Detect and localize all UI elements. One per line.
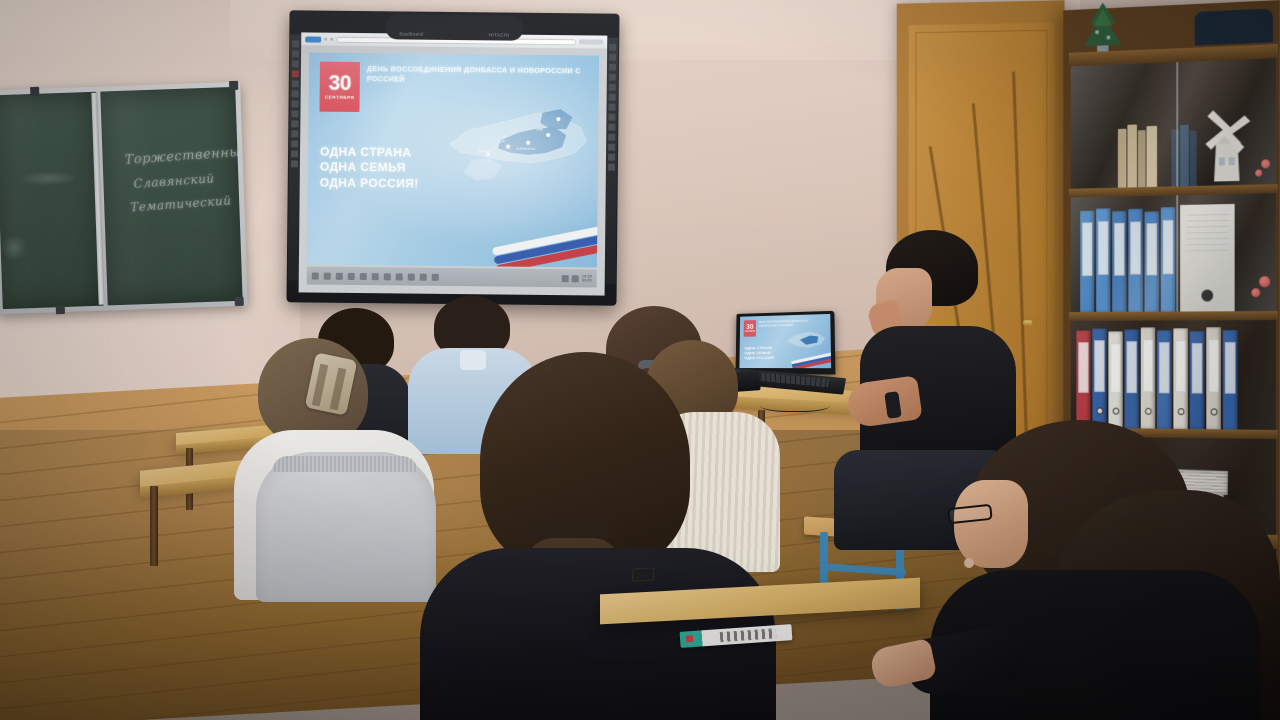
slide-motto-line-2: ОДНА СЕМЬЯ xyxy=(320,160,419,176)
bookcase-bay-mixed-binders[interactable] xyxy=(1071,320,1276,430)
app-icon[interactable] xyxy=(432,273,439,280)
binder[interactable] xyxy=(1125,329,1139,428)
glass-door-seam xyxy=(1176,62,1178,186)
slide-day-number: 30 xyxy=(328,73,351,93)
keypad-key[interactable] xyxy=(608,124,615,131)
chalk-smudge xyxy=(0,234,27,261)
keypad-key[interactable] xyxy=(608,144,615,151)
system-tray[interactable]: 14:35 30.09 xyxy=(562,274,592,282)
binder-white[interactable] xyxy=(1206,327,1221,429)
whiteboard-brand-hitachi: HITACHI xyxy=(489,32,510,37)
binder[interactable] xyxy=(1190,331,1205,429)
desk-leg xyxy=(150,486,158,566)
windows-taskbar[interactable]: 14:35 30.09 xyxy=(307,266,597,287)
binder-white[interactable] xyxy=(1173,328,1187,429)
svg-text:ЗАПОРОЖЬЕ: ЗАПОРОЖЬЕ xyxy=(516,147,535,151)
binder[interactable] xyxy=(1145,211,1159,311)
keypad-key[interactable] xyxy=(608,154,615,161)
whiteboard-brand-starboard: StarBoard xyxy=(399,31,423,36)
binder-label xyxy=(1163,220,1174,274)
binder[interactable] xyxy=(1128,209,1142,312)
student-foreground xyxy=(420,352,780,720)
chalkboard-panel-left xyxy=(0,92,104,309)
decorative-windmill xyxy=(1197,107,1258,182)
folder-icon[interactable] xyxy=(420,273,427,280)
keypad-key[interactable] xyxy=(608,114,615,121)
presentation-slide[interactable]: ДНР ЛНР ЗАПОРОЖЬЕ ХЕРСОН 30 СЕНТЯБРЯ ДЕН… xyxy=(307,52,599,267)
chalkboard: Торжественный Славянский Тематический xyxy=(0,82,248,315)
binder-label xyxy=(1159,342,1170,393)
keypad-key[interactable] xyxy=(609,64,616,71)
binder-ring xyxy=(1145,408,1152,415)
book-dark[interactable] xyxy=(1190,131,1197,187)
glass-door-seam xyxy=(1176,195,1178,311)
binder-label xyxy=(1225,342,1236,394)
binder-label xyxy=(1110,343,1120,393)
browser-icon[interactable] xyxy=(360,273,367,280)
clock-date: 30.09 xyxy=(582,278,592,282)
binder-label xyxy=(1208,339,1219,392)
start-icon[interactable] xyxy=(312,272,319,279)
chalkboard-corner xyxy=(30,87,39,96)
binder[interactable] xyxy=(1080,211,1094,312)
keypad-key-power[interactable] xyxy=(292,70,299,77)
binder[interactable] xyxy=(1223,330,1238,429)
binder-label xyxy=(1126,341,1136,392)
keypad-key[interactable] xyxy=(291,140,298,147)
chalkboard-corner xyxy=(235,297,244,306)
svg-text:ЛНР: ЛНР xyxy=(536,128,544,132)
book[interactable] xyxy=(1127,124,1137,187)
keypad-key[interactable] xyxy=(291,120,298,127)
browser-forward-icon[interactable] xyxy=(330,38,333,41)
laptop-slide-month: СЕНТЯБРЯ xyxy=(745,331,755,333)
chalkboard-sheen-left xyxy=(0,92,73,309)
taskbar-clock[interactable]: 14:35 30.09 xyxy=(582,274,592,282)
keypad-key[interactable] xyxy=(291,110,298,117)
dark-bag-on-top xyxy=(1195,8,1273,45)
slide-month-label: СЕНТЯБРЯ xyxy=(325,95,355,100)
search-icon[interactable] xyxy=(324,272,331,279)
binder-label xyxy=(1130,221,1140,275)
keypad-key[interactable] xyxy=(292,60,299,67)
browser-toolbar-chip[interactable] xyxy=(579,39,603,44)
powerpoint-icon[interactable] xyxy=(384,273,391,280)
archive-box-white[interactable] xyxy=(1180,204,1234,312)
binder-ring xyxy=(1096,407,1103,414)
chalkboard-panel-right: Торжественный Славянский Тематический xyxy=(100,87,243,306)
face-profile xyxy=(954,480,1028,568)
binder-red[interactable] xyxy=(1076,331,1090,428)
book[interactable] xyxy=(1138,130,1146,187)
classroom-scene: Торжественный Славянский Тематический St… xyxy=(0,0,1280,720)
mail-icon[interactable] xyxy=(372,273,379,280)
svg-text:ДНР: ДНР xyxy=(498,139,506,143)
vest-ribbed-collar xyxy=(272,456,418,472)
knit-vest xyxy=(256,452,436,602)
binder-label xyxy=(1143,340,1154,393)
archive-box-lines xyxy=(1186,214,1229,254)
binder-white[interactable] xyxy=(1108,331,1122,428)
russia-map-graphic: ДНР ЛНР ЗАПОРОЖЬЕ ХЕРСОН xyxy=(442,82,593,204)
keypad-key[interactable] xyxy=(292,80,299,87)
binder-white[interactable] xyxy=(1141,327,1155,428)
binder-ring xyxy=(1112,408,1119,415)
binder[interactable] xyxy=(1161,207,1175,312)
chalkboard-frame: Торжественный Славянский Тематический xyxy=(0,82,248,315)
binder-ring xyxy=(1177,408,1184,415)
volume-icon[interactable] xyxy=(572,275,579,282)
binder-label xyxy=(1094,340,1104,392)
keypad-key[interactable] xyxy=(291,160,298,167)
book[interactable] xyxy=(1118,129,1127,188)
media-icon[interactable] xyxy=(408,273,415,280)
desk-sticker: △○□ xyxy=(632,567,654,581)
binder-label xyxy=(1192,343,1203,394)
archive-box-hole xyxy=(1201,290,1213,302)
pencil-case-logo xyxy=(686,635,693,642)
keypad-key[interactable] xyxy=(292,90,299,97)
binder[interactable] xyxy=(1092,329,1106,429)
word-icon[interactable] xyxy=(396,273,403,280)
binder-label xyxy=(1082,223,1092,276)
keypad-key[interactable] xyxy=(291,150,298,157)
red-flower xyxy=(1261,159,1270,168)
door-handle[interactable] xyxy=(1023,320,1032,325)
binder[interactable] xyxy=(1112,211,1126,312)
browser-back-icon[interactable] xyxy=(324,38,327,41)
keypad-key[interactable] xyxy=(292,50,299,57)
chalk-smudge xyxy=(18,170,78,186)
pencil-case-print xyxy=(720,628,777,642)
keypad-key[interactable] xyxy=(292,100,299,107)
keypad-key[interactable] xyxy=(292,40,299,47)
taskview-icon[interactable] xyxy=(336,272,343,279)
binder-label xyxy=(1175,340,1186,392)
chalkboard-corner xyxy=(229,81,238,90)
keypad-key[interactable] xyxy=(609,54,616,61)
student-bottom-right xyxy=(930,420,1280,720)
explorer-icon[interactable] xyxy=(348,272,355,279)
keypad-key[interactable] xyxy=(291,130,298,137)
binder-label xyxy=(1098,221,1108,275)
keypad-key[interactable] xyxy=(609,44,616,51)
slide-motto-line-1: ОДНА СТРАНА xyxy=(320,145,419,161)
binder-label xyxy=(1078,342,1088,393)
binder[interactable] xyxy=(1096,208,1110,312)
keypad-key[interactable] xyxy=(609,74,616,81)
keypad-key[interactable] xyxy=(608,134,615,141)
browser-tab[interactable] xyxy=(305,36,321,42)
keypad-key[interactable] xyxy=(609,104,616,111)
bookcase-bay-display[interactable] xyxy=(1071,58,1276,189)
book-dark[interactable] xyxy=(1180,125,1189,186)
slide-motto: ОДНА СТРАНА ОДНА СЕМЬЯ ОДНА РОССИЯ! xyxy=(320,145,419,192)
binder[interactable] xyxy=(1157,330,1171,429)
keypad-key[interactable] xyxy=(609,94,616,101)
interactive-whiteboard[interactable]: StarBoard HITACHI xyxy=(286,10,619,305)
laptop-slide-date-badge: 30 СЕНТЯБРЯ xyxy=(744,320,756,337)
earring xyxy=(964,558,974,568)
binder-label xyxy=(1146,223,1157,275)
whiteboard-top-hub: StarBoard HITACHI xyxy=(385,14,523,40)
binder-ring xyxy=(1210,408,1217,415)
chalkboard-corner xyxy=(56,305,65,314)
network-icon[interactable] xyxy=(562,275,569,282)
svg-text:ХЕРСОН: ХЕРСОН xyxy=(478,149,491,153)
russian-flag-ribbon xyxy=(489,215,599,268)
whiteboard-projection-screen[interactable]: ДНР ЛНР ЗАПОРОЖЬЕ ХЕРСОН 30 СЕНТЯБРЯ ДЕН… xyxy=(299,32,608,295)
red-flower xyxy=(1251,288,1260,297)
book[interactable] xyxy=(1146,126,1157,187)
binder-label xyxy=(1114,223,1124,276)
red-flower xyxy=(1259,276,1270,287)
keypad-key[interactable] xyxy=(608,164,615,171)
slide-headline: ДЕНЬ ВОССОЕДИНЕНИЯ ДОНБАССА И НОВОРОССИИ… xyxy=(367,64,591,87)
bookcase-bay-blue-binders[interactable] xyxy=(1071,193,1276,312)
keypad-key[interactable] xyxy=(609,84,616,91)
red-flower xyxy=(1255,169,1262,176)
slide-motto-line-3: ОДНА РОССИЯ! xyxy=(320,175,419,191)
student-front-left xyxy=(228,334,438,594)
slide-date-badge: 30 СЕНТЯБРЯ xyxy=(319,62,360,112)
